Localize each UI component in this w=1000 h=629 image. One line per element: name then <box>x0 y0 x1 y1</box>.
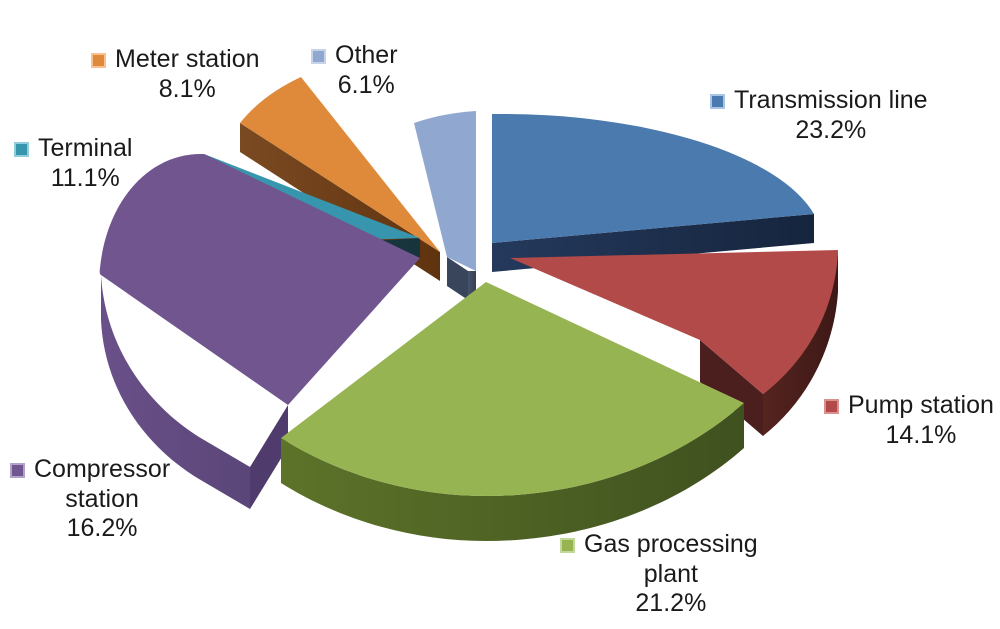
legend-pct-terminal: 11.1% <box>14 164 132 194</box>
legend-label-meter-station[interactable]: Meter station 8.1% <box>91 45 260 104</box>
legend-swatch-meter-station <box>91 53 106 68</box>
legend-name-terminal: Terminal <box>38 134 132 164</box>
legend-label-other[interactable]: Other 6.1% <box>311 41 398 100</box>
legend-name-transmission-line: Transmission line <box>734 86 928 116</box>
legend-name-meter-station: Meter station <box>115 45 260 75</box>
legend-name2-compressor-station: station <box>10 485 170 515</box>
legend-pct-compressor-station: 16.2% <box>10 514 170 544</box>
legend-pct-transmission-line: 23.2% <box>710 116 928 146</box>
legend-name-pump-station: Pump station <box>848 391 994 421</box>
legend-name-other: Other <box>335 41 398 71</box>
legend-name-gas-processing-plant: Gas processing <box>584 530 758 560</box>
legend-label-transmission-line[interactable]: Transmission line 23.2% <box>710 86 928 145</box>
legend-swatch-compressor-station <box>10 463 25 478</box>
legend-pct-pump-station: 14.1% <box>824 421 994 451</box>
legend-label-terminal[interactable]: Terminal 11.1% <box>14 134 132 193</box>
legend-pct-gas-processing-plant: 21.2% <box>560 589 758 619</box>
legend-pct-other: 6.1% <box>311 71 398 101</box>
legend-swatch-other <box>311 49 326 64</box>
pie-chart: Transmission line 23.2% Pump station 14.… <box>0 0 1000 629</box>
legend-label-gas-processing-plant[interactable]: Gas processing plant 21.2% <box>560 530 758 619</box>
legend-name2-gas-processing-plant: plant <box>560 560 758 590</box>
legend-pct-meter-station: 8.1% <box>91 75 260 105</box>
legend-swatch-pump-station <box>824 399 839 414</box>
legend-label-pump-station[interactable]: Pump station 14.1% <box>824 391 994 450</box>
legend-swatch-terminal <box>14 142 29 157</box>
legend-name-compressor-station: Compressor <box>34 455 170 485</box>
legend-swatch-transmission-line <box>710 94 725 109</box>
legend-label-compressor-station[interactable]: Compressor station 16.2% <box>10 455 170 544</box>
legend-swatch-gas-processing-plant <box>560 538 575 553</box>
